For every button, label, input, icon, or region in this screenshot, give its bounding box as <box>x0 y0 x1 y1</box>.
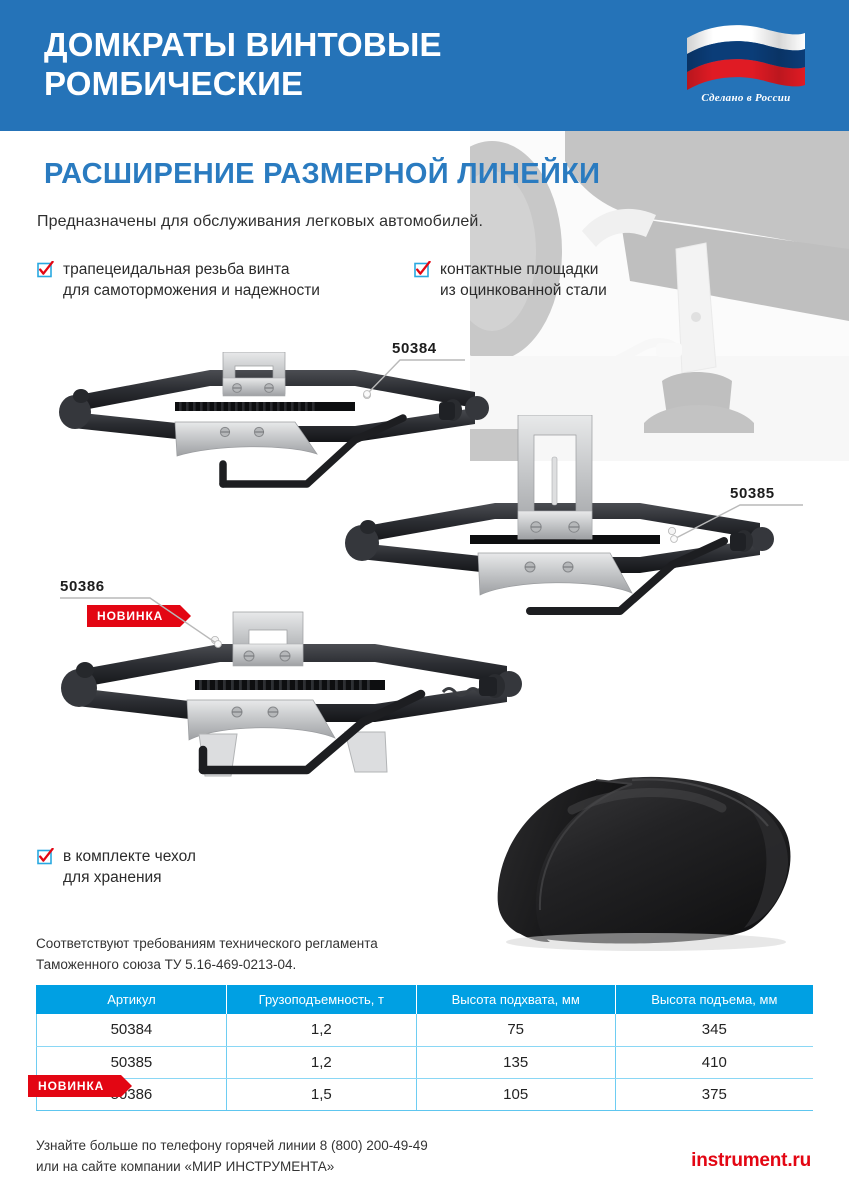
feature-item-screw-thread: трапецеидальная резьба винта для самотор… <box>37 259 320 302</box>
table-header-cell: Артикул <box>37 985 227 1014</box>
callout-code-50385: 50385 <box>730 485 775 502</box>
product-sheet-page: ДОМКРАТЫ ВИНТОВЫЕ РОМБИЧЕСКИЕ <box>0 0 849 1200</box>
flag-caption: Сделано в России <box>671 92 821 104</box>
page-header: ДОМКРАТЫ ВИНТОВЫЕ РОМБИЧЕСКИЕ <box>0 0 849 131</box>
regulation-note: Соответствуют требованиям технического р… <box>36 934 378 976</box>
callout-code-50384: 50384 <box>392 340 437 357</box>
table-cell-lift-height: 410 <box>615 1046 813 1078</box>
table-header-row: Артикул Грузоподъемность, т Высота подхв… <box>37 985 814 1014</box>
table-cell-pickup-height: 135 <box>416 1046 615 1078</box>
table-cell-lift-height: 345 <box>615 1014 813 1046</box>
section-subtitle: РАСШИРЕНИЕ РАЗМЕРНОЙ ЛИНЕЙКИ <box>44 158 600 191</box>
page-title: ДОМКРАТЫ ВИНТОВЫЕ РОМБИЧЕСКИЕ <box>44 26 644 104</box>
footer-contact-text: Узнайте больше по телефону горячей линии… <box>36 1136 428 1178</box>
table-cell-article: 50384 <box>37 1014 227 1046</box>
specifications-table: Артикул Грузоподъемность, т Высота подхв… <box>36 985 813 1111</box>
callout-code-50386: 50386 <box>60 578 105 595</box>
feature-item-storage-bag: в комплекте чехол для хранения <box>37 846 196 889</box>
checkbox-checked-icon <box>37 261 54 278</box>
table-header-cell: Высота подхвата, мм <box>416 985 615 1014</box>
feature-label: в комплекте чехол для хранения <box>63 846 196 889</box>
table-header-cell: Высота подъема, мм <box>615 985 813 1014</box>
novinka-badge-photo: НОВИНКА <box>87 605 180 627</box>
feature-label: контактные площадки из оцинкованной стал… <box>440 259 607 302</box>
table-cell-capacity: 1,5 <box>226 1078 416 1110</box>
table-cell-capacity: 1,2 <box>226 1014 416 1046</box>
feature-label: трапецеидальная резьба винта для самотор… <box>63 259 320 302</box>
table-cell-capacity: 1,2 <box>226 1046 416 1078</box>
checkbox-checked-icon <box>37 848 54 865</box>
table-row: 50386 1,5 105 375 <box>37 1078 814 1110</box>
table-row: 50385 1,2 135 410 <box>37 1046 814 1078</box>
table-row: 50384 1,2 75 345 <box>37 1014 814 1046</box>
table-header-cell: Грузоподъемность, т <box>226 985 416 1014</box>
storage-bag-photo <box>476 762 806 952</box>
feature-item-contact-pads: контактные площадки из оцинкованной стал… <box>414 259 607 302</box>
intro-text: Предназначены для обслуживания легковых … <box>37 213 483 231</box>
novinka-badge-table: НОВИНКА <box>28 1075 121 1097</box>
table-cell-pickup-height: 75 <box>416 1014 615 1046</box>
russian-flag-icon: Сделано в России <box>671 22 821 118</box>
scissor-jack-50385-photo <box>320 415 820 615</box>
checkbox-checked-icon <box>414 261 431 278</box>
table-cell-article: 50385 <box>37 1046 227 1078</box>
footer-site-logo[interactable]: instrument.ru <box>691 1150 811 1172</box>
table-cell-lift-height: 375 <box>615 1078 813 1110</box>
table-cell-pickup-height: 105 <box>416 1078 615 1110</box>
